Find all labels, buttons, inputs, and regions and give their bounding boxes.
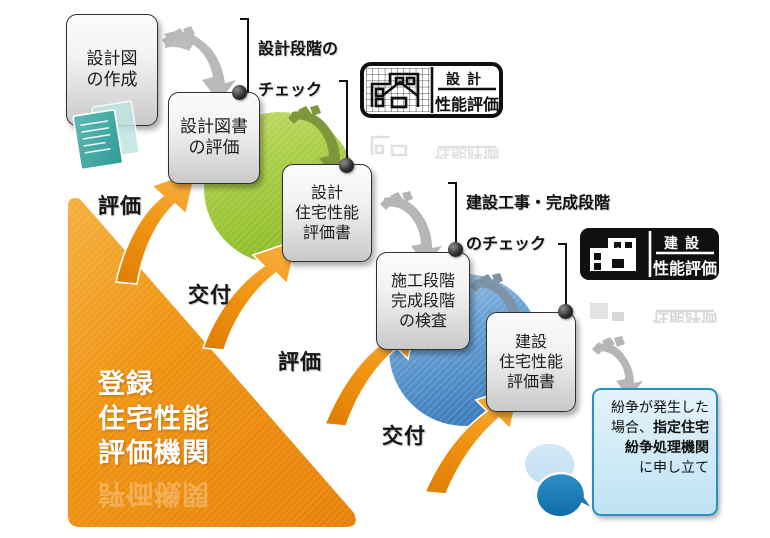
leader-dot-design-stage: [232, 85, 247, 100]
flow-label-delivery-1: 交付: [188, 279, 232, 309]
design-mark-bottom-text: 性能評価: [435, 95, 499, 114]
box-design-drawing-line2: の作成: [87, 70, 138, 91]
design-performance-evaluation-mark: 設計 性能評価: [360, 62, 503, 118]
box-construction-inspection-line3: の検査: [391, 311, 455, 331]
dispute-line4: に申し立て: [601, 459, 709, 479]
box-design-document-evaluation-line1: 設計図書: [180, 117, 248, 138]
documents-icon: [68, 97, 150, 169]
box-design-performance-report[interactable]: 設計 住宅性能 評価書: [282, 164, 372, 262]
box-build-performance-report-line2: 住宅性能: [499, 352, 563, 372]
dispute-resolution-box[interactable]: 紛争が発生した 場合、指定住宅 紛争処理機関 に申し立て: [592, 388, 718, 516]
agency-label: 登録 住宅性能 評価機関: [98, 368, 308, 472]
box-construction-inspection-line1: 施工段階: [391, 271, 455, 291]
box-design-document-evaluation[interactable]: 設計図書 の評価: [168, 92, 260, 184]
callout-construction-stage-check-line1: 建設工事・完成段階: [466, 193, 610, 214]
callout-design-stage-check-line2: チェック: [258, 80, 338, 101]
box-design-performance-report-line1: 設計: [295, 183, 359, 203]
leader-tick-design-stage: [240, 18, 249, 20]
box-design-drawing-line1: 設計図: [87, 49, 138, 70]
agency-label-line2: 住宅性能: [98, 403, 308, 438]
dispute-line3: 紛争処理機関: [601, 439, 709, 459]
design-mark-top-text: 設計: [446, 71, 488, 88]
dispute-line1: 紛争が発生した: [601, 399, 709, 419]
callout-design-stage-check: 設計段階の チェック: [258, 18, 338, 122]
leader-tick-design-mark: [339, 80, 348, 82]
svg-text:性能評価: 性能評価: [435, 146, 499, 159]
box-build-performance-report-line1: 建設: [499, 332, 563, 352]
dispute-line2-bold: 指定住宅: [653, 420, 709, 436]
flow-label-evaluation-2: 評価: [278, 346, 322, 376]
leader-line-design-mark: [346, 80, 348, 165]
dispute-line2-plain: 場合、: [611, 420, 653, 436]
box-build-performance-report[interactable]: 建設 住宅性能 評価書: [486, 312, 576, 412]
diagram-canvas: 登録 住宅性能 評価機関 評価機関: [0, 0, 770, 538]
box-design-performance-report-line2: 住宅性能: [295, 203, 359, 223]
flow-label-evaluation-1: 評価: [98, 190, 142, 220]
agency-label-line3: 評価機関: [98, 437, 308, 472]
build-mark-reflection: 性能評価: [578, 283, 721, 323]
box-design-document-evaluation-line2: の評価: [180, 138, 248, 159]
leader-line-construction-stage: [455, 182, 457, 246]
build-mark-bottom-text: 性能評価: [653, 259, 717, 278]
box-construction-inspection-line2: 完成段階: [391, 291, 455, 311]
agency-label-reflection: 評価機関: [98, 475, 308, 510]
leader-tick-construction-stage: [448, 182, 457, 184]
box-construction-inspection[interactable]: 施工段階 完成段階 の検査: [376, 252, 470, 350]
box-design-performance-report-line3: 評価書: [295, 223, 359, 243]
build-mark-top-text: 建設: [664, 235, 706, 252]
flow-label-delivery-2: 交付: [382, 420, 426, 450]
build-performance-evaluation-mark: 建設 性能評価: [578, 226, 721, 282]
svg-text:性能評価: 性能評価: [653, 310, 717, 323]
dispute-line2: 場合、指定住宅: [601, 419, 709, 439]
leader-line-design-stage: [247, 18, 249, 92]
design-mark-reflection: 性能評価: [360, 119, 503, 159]
callout-design-stage-check-line1: 設計段階の: [258, 39, 338, 60]
leader-dot-design-mark: [339, 158, 354, 173]
leader-dot-construction-stage: [448, 242, 463, 257]
box-build-performance-report-line3: 評価書: [499, 372, 563, 392]
dispute-line3-bold: 紛争処理機関: [625, 440, 709, 456]
leader-dot-build-mark: [558, 304, 573, 319]
agency-label-line1: 登録: [98, 368, 308, 403]
